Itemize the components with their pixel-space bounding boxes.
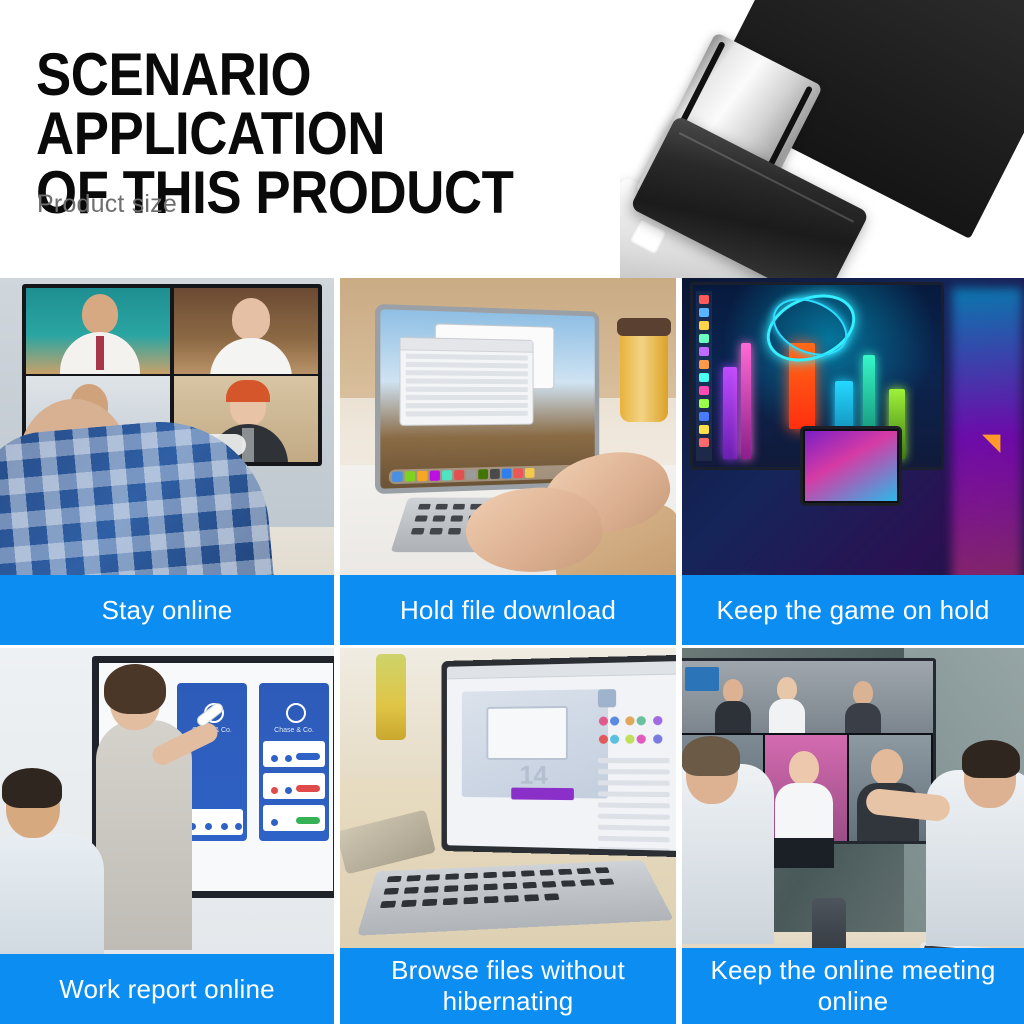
header-section: SCENARIO APPLICATION OF THIS PRODUCT Pro… <box>0 0 1024 278</box>
scenario-cell-hold-file-download: Hold file download <box>340 278 682 648</box>
tablet <box>800 426 902 506</box>
caption-text: Work report online <box>59 974 275 1005</box>
caption-text: Keep the online meeting online <box>688 955 1018 1016</box>
scenario-cell-work-report-online: Chase & Co. Chase & Co. <box>0 648 340 1024</box>
headline-line-1: SCENARIO APPLICATION <box>36 41 385 167</box>
coffee-cup <box>620 330 668 422</box>
scenario-cell-keep-online-meeting: Keep the online meeting online <box>682 648 1024 1024</box>
caption-keep-online-meeting: Keep the online meeting online <box>682 948 1024 1024</box>
scenario-grid: Stay online <box>0 278 1024 1024</box>
caption-text: Keep the game on hold <box>716 595 989 626</box>
caption-text: Hold file download <box>400 595 616 626</box>
product-marketing-page: SCENARIO APPLICATION OF THIS PRODUCT Pro… <box>0 0 1024 1024</box>
scenario-cell-keep-game-on-hold: ◥ Keep the game on hold <box>682 278 1024 648</box>
caption-stay-online: Stay online <box>0 575 334 645</box>
caption-hold-file-download: Hold file download <box>340 575 676 645</box>
laptop: 14 <box>441 655 676 858</box>
caption-work-report-online: Work report online <box>0 954 334 1024</box>
caption-text: Stay online <box>102 595 233 626</box>
page-subtitle: Product size <box>37 190 177 219</box>
caption-text: Browse files without hibernating <box>346 955 670 1016</box>
smartphone <box>340 810 436 875</box>
brand-logo: ◥ <box>982 428 1008 454</box>
product-photo <box>620 0 1024 278</box>
caption-browse-files: Browse files without hibernating <box>340 948 676 1024</box>
scenario-cell-browse-files: 14 <box>340 648 682 1024</box>
caption-keep-game-on-hold: Keep the game on hold <box>682 575 1024 645</box>
laptop <box>375 304 599 494</box>
scenario-cell-stay-online: Stay online <box>0 278 340 648</box>
